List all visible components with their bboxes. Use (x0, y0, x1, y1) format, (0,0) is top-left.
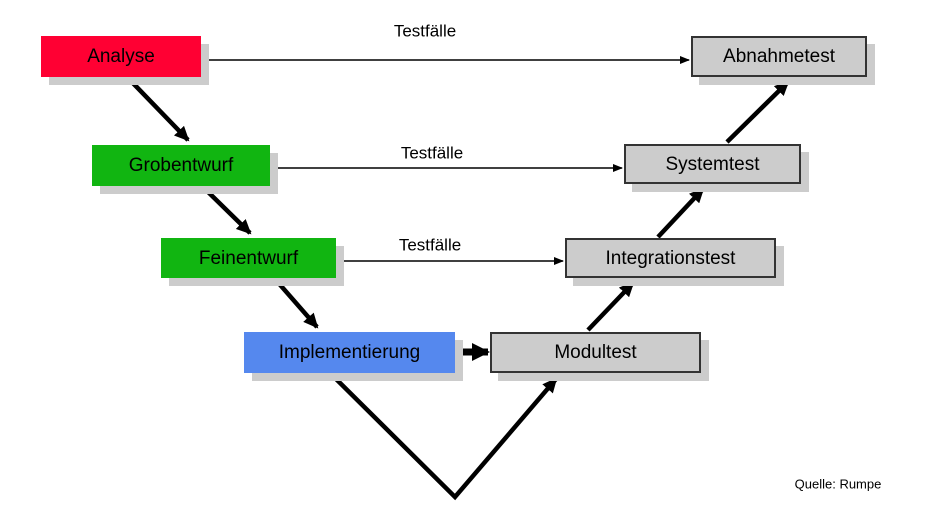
node-abnahmetest[interactable]: Abnahmetest (691, 36, 867, 77)
node-grobentwurf-label: Grobentwurf (129, 156, 234, 175)
node-implementierung-label: Implementierung (279, 343, 421, 362)
edge-implementierung-to-modultest-v (330, 373, 556, 497)
node-abnahmetest-label: Abnahmetest (723, 47, 835, 66)
edge-feinentwurf-to-implementierung (275, 279, 317, 327)
node-analyse[interactable]: Analyse (41, 36, 201, 77)
edge-modultest-to-integrationstest (588, 283, 633, 330)
node-grobentwurf[interactable]: Grobentwurf (92, 145, 270, 186)
node-implementierung[interactable]: Implementierung (244, 332, 455, 373)
edge-label-testfaelle-3: Testfälle (399, 237, 461, 254)
edge-label-testfaelle-1: Testfälle (394, 23, 456, 40)
node-feinentwurf-label: Feinentwurf (199, 249, 298, 268)
node-modultest-label: Modultest (554, 343, 636, 362)
node-analyse-label: Analyse (87, 47, 155, 66)
edge-label-testfaelle-2: Testfälle (401, 145, 463, 162)
node-feinentwurf[interactable]: Feinentwurf (161, 238, 336, 278)
node-integrationstest[interactable]: Integrationstest (565, 238, 776, 278)
edge-systemtest-to-abnahmetest (727, 82, 788, 142)
node-systemtest[interactable]: Systemtest (624, 144, 801, 184)
node-modultest[interactable]: Modultest (490, 332, 701, 373)
edge-analyse-to-grobentwurf (128, 78, 188, 140)
v-model-diagram: Analyse Grobentwurf Feinentwurf Implemen… (0, 0, 951, 517)
source-note: Quelle: Rumpe (795, 478, 882, 491)
node-systemtest-label: Systemtest (666, 155, 760, 174)
edge-integrationstest-to-systemtest (658, 189, 703, 237)
node-integrationstest-label: Integrationstest (606, 249, 736, 268)
